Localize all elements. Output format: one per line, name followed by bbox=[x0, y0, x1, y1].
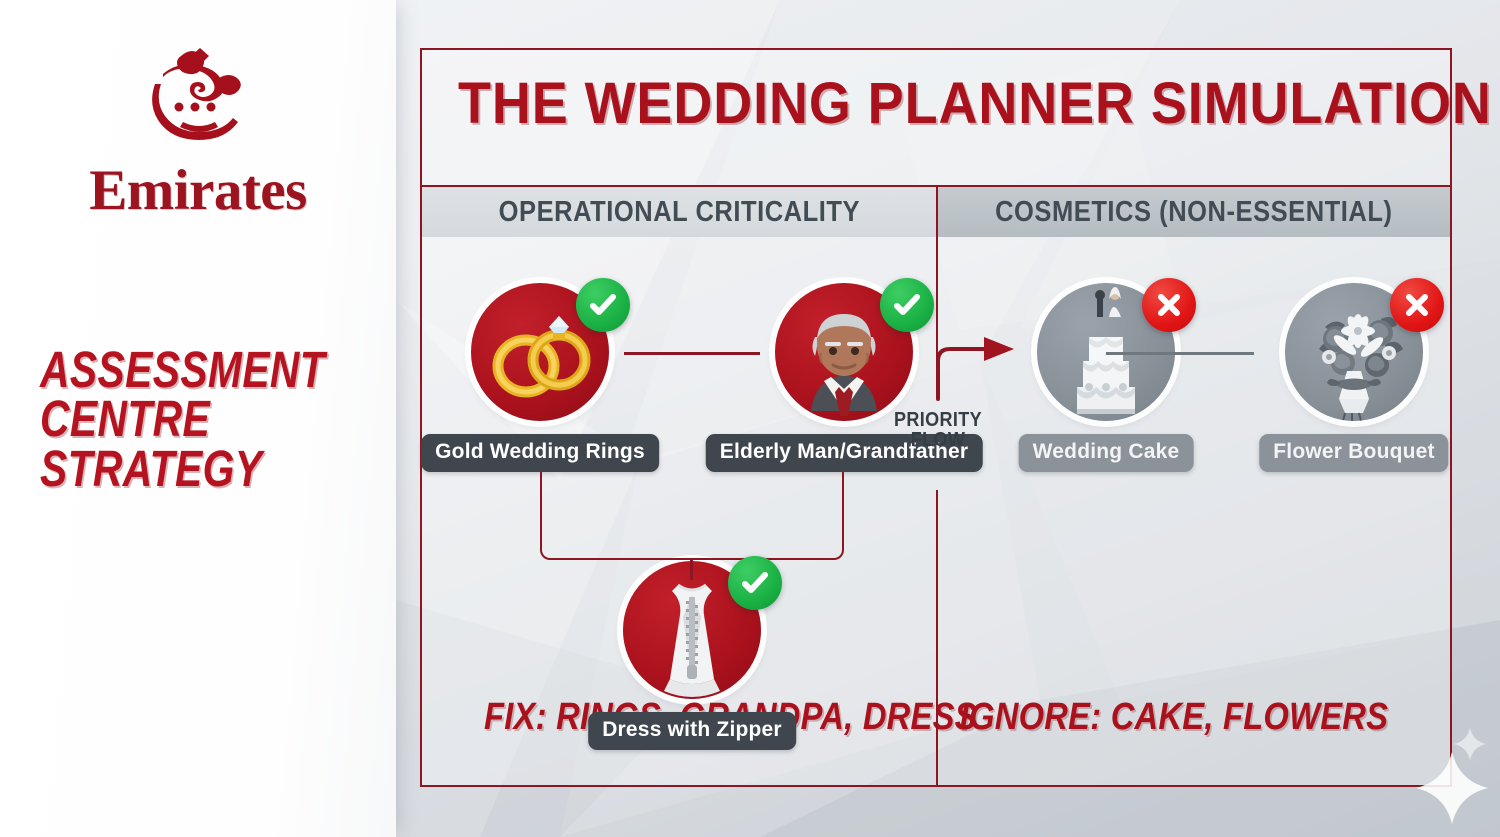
main-panel: THE WEDDING PLANNER SIMULATION OPERATION… bbox=[420, 48, 1452, 787]
node-wedding-cake-status-badge bbox=[1142, 278, 1196, 332]
node-flower-bouquet-status-badge bbox=[1390, 278, 1444, 332]
page-title: THE WEDDING PLANNER SIMULATION bbox=[458, 70, 1414, 137]
node-rings-status-badge bbox=[576, 278, 630, 332]
node-wedding-cake-label: Wedding Cake bbox=[1019, 434, 1194, 472]
sidebar-heading-line-1: ASSESSMENT bbox=[40, 345, 304, 394]
brand-wordmark: Emirates bbox=[0, 158, 396, 223]
priority-flow-arrow bbox=[910, 325, 1018, 405]
connector-bracket-stem bbox=[690, 558, 693, 580]
brand-logo: Emirates bbox=[0, 44, 396, 223]
check-circle-icon bbox=[739, 567, 771, 599]
node-elderly-man-status-badge bbox=[880, 278, 934, 332]
connector-cake-to-bouquet bbox=[1106, 352, 1254, 355]
column-header-operational: OPERATIONAL CRITICALITY bbox=[422, 187, 936, 237]
priority-flow-line-1: PRIORITY bbox=[894, 410, 982, 430]
check-circle-icon bbox=[587, 289, 619, 321]
node-dress-label: Dress with Zipper bbox=[588, 712, 796, 750]
column-header-operational-label: OPERATIONAL CRITICALITY bbox=[498, 196, 859, 229]
sidebar-heading: ASSESSMENT CENTRE STRATEGY bbox=[40, 345, 304, 493]
check-circle-icon bbox=[891, 289, 923, 321]
column-headers: OPERATIONAL CRITICALITY COSMETICS (NON-E… bbox=[422, 185, 1450, 237]
column-header-cosmetics: COSMETICS (NON-ESSENTIAL) bbox=[936, 187, 1450, 237]
sidebar-heading-line-3: STRATEGY bbox=[40, 444, 304, 493]
priority-flow-line-2: FLOW bbox=[894, 430, 982, 450]
brand-sidebar: Emirates ASSESSMENT CENTRE STRATEGY bbox=[0, 0, 396, 837]
conclusion-cosmetics: IGNORE: CAKE, FLOWERS bbox=[960, 696, 1388, 739]
sidebar-heading-line-2: CENTRE bbox=[40, 394, 304, 443]
connector-rings-to-elderly bbox=[624, 352, 760, 355]
infographic-screen: Emirates ASSESSMENT CENTRE STRATEGY THE … bbox=[0, 0, 1500, 837]
priority-flow-label: PRIORITY FLOW bbox=[894, 410, 982, 451]
node-rings-label: Gold Wedding Rings bbox=[421, 434, 659, 472]
node-dress-status-badge bbox=[728, 556, 782, 610]
column-divider-bottom bbox=[936, 490, 938, 785]
cross-circle-icon bbox=[1153, 289, 1185, 321]
column-header-cosmetics-label: COSMETICS (NON-ESSENTIAL) bbox=[995, 196, 1392, 229]
node-flower-bouquet-label: Flower Bouquet bbox=[1259, 434, 1448, 472]
cross-circle-icon bbox=[1401, 289, 1433, 321]
emirates-calligraphy-logo-icon bbox=[123, 44, 273, 162]
